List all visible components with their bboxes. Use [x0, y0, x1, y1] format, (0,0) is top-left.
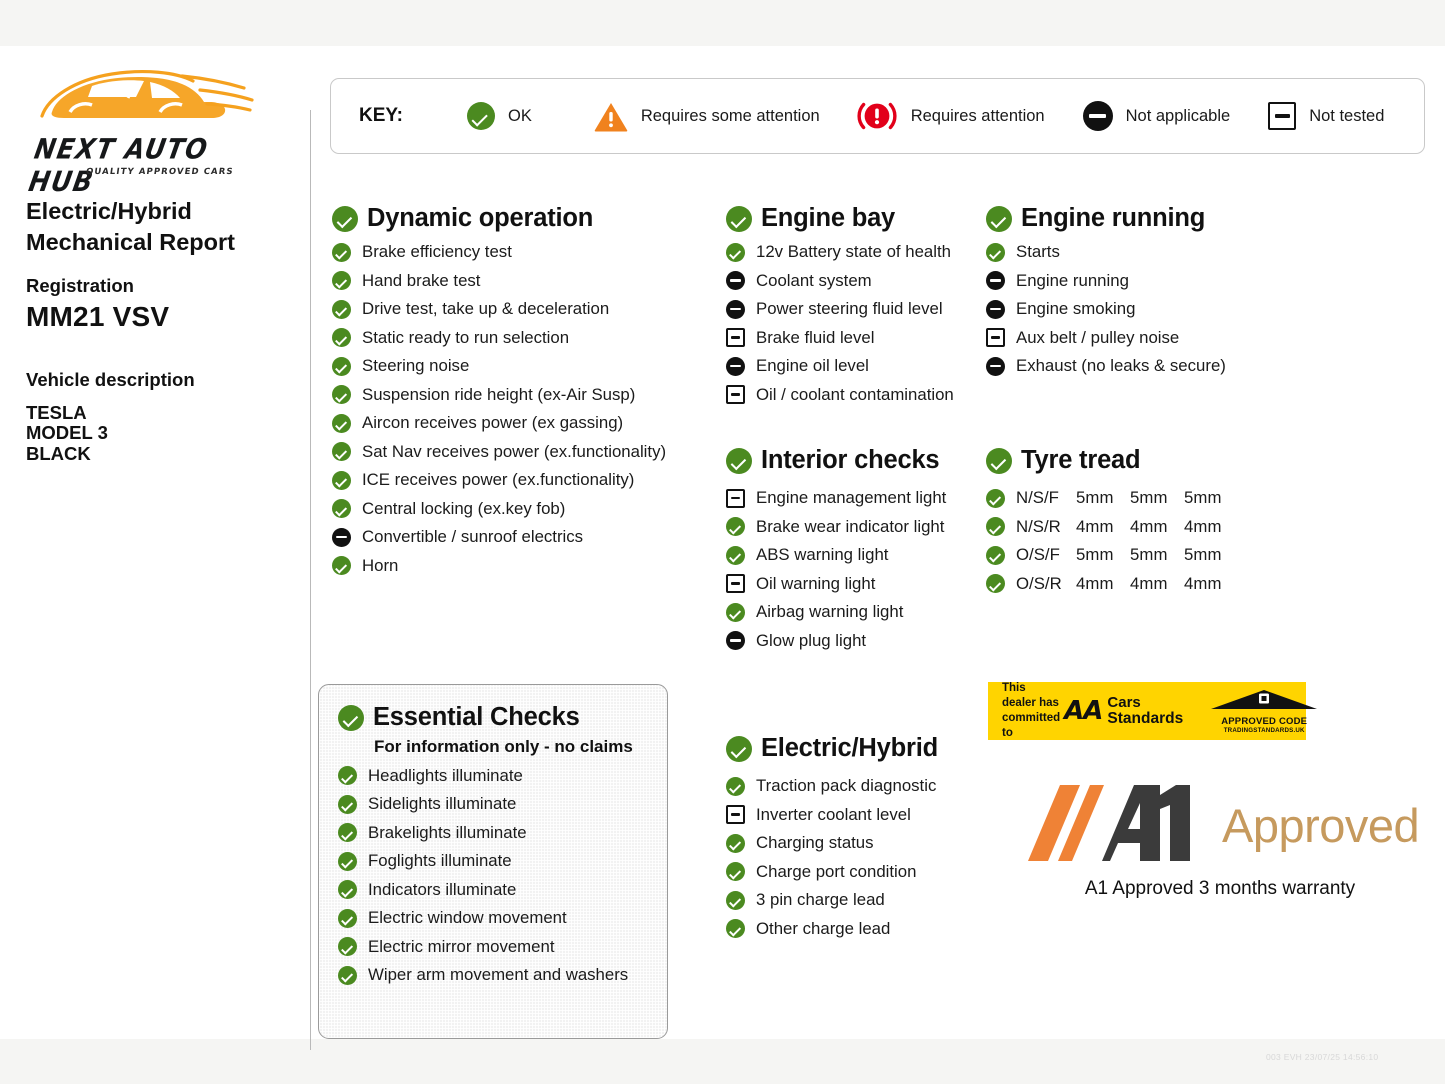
not-tested-icon — [1268, 102, 1296, 130]
checklist-item: Central locking (ex.key fob) — [332, 499, 666, 519]
checklist: Headlights illuminateSidelights illumina… — [338, 766, 667, 986]
vehicle-info-sidebar: NEXT AUTO HUB QUALITY APPROVED CARS Elec… — [26, 60, 294, 465]
key-item-ok: OK — [467, 102, 532, 130]
not-applicable-icon — [726, 357, 745, 376]
brand-name: NEXT AUTO HUB — [26, 133, 281, 198]
checklist-item-label: Steering noise — [362, 356, 469, 376]
bottom-margin-band — [0, 1039, 1445, 1084]
ok-icon — [332, 328, 351, 347]
section-title: Engine bay — [761, 204, 895, 233]
tyre-depth-value: 5mm — [1130, 488, 1184, 508]
checklist-item-label: Brake efficiency test — [362, 242, 512, 262]
checklist-item-label: Other charge lead — [756, 919, 890, 939]
trading-standards-label: TRADINGSTANDARDS.UK — [1210, 727, 1318, 734]
ok-icon — [726, 517, 745, 536]
checklist-item: Horn — [332, 556, 666, 576]
checklist-item: Sat Nav receives power (ex.functionality… — [332, 442, 666, 462]
checklist-item: ABS warning light — [726, 545, 946, 565]
checklist-item-label: 3 pin charge lead — [756, 890, 885, 910]
tyre-tread-list: N/S/F5mm5mm5mmN/S/R4mm4mm4mmO/S/F5mm5mm5… — [986, 488, 1238, 594]
checklist-item: Hand brake test — [332, 271, 666, 291]
ok-icon — [986, 517, 1005, 536]
ok-icon — [726, 891, 745, 910]
checklist-item-label: Engine smoking — [1016, 299, 1135, 319]
checklist-item-label: Sat Nav receives power (ex.functionality… — [362, 442, 666, 462]
section-header: Engine bay — [726, 204, 954, 233]
ok-icon — [332, 300, 351, 319]
checklist-item-label: Charge port condition — [756, 862, 916, 882]
section-electric-hybrid: Electric/Hybrid Traction pack diagnostic… — [726, 734, 938, 939]
checklist-item-label: Indicators illuminate — [368, 880, 516, 900]
not-applicable-icon — [726, 631, 745, 650]
ok-icon — [338, 823, 357, 842]
aa-cars-label: Cars — [1107, 695, 1183, 711]
checklist-item-label: Foglights illuminate — [368, 851, 512, 871]
checklist-item: Glow plug light — [726, 631, 946, 651]
ok-icon — [332, 206, 358, 232]
not-applicable-icon — [726, 271, 745, 290]
checklist-item: Inverter coolant level — [726, 805, 938, 825]
tyre-depth-value: 4mm — [1076, 517, 1130, 537]
report-footer-code: 003 EVH 23/07/25 14:56:10 — [1266, 1052, 1378, 1062]
section-header: Engine running — [986, 204, 1226, 233]
page-title: Electric/HybridMechanical Report — [26, 196, 294, 259]
tyre-depth-values: 4mm4mm4mm — [1076, 517, 1238, 537]
ok-icon — [986, 546, 1005, 565]
checklist-item-label: Brake wear indicator light — [756, 517, 944, 537]
tyre-depth-value: 5mm — [1076, 545, 1130, 565]
a1-approved-word: Approved — [1222, 798, 1419, 853]
not-tested-icon — [726, 328, 745, 347]
checklist-item-label: Exhaust (no leaks & secure) — [1016, 356, 1226, 376]
ok-icon — [986, 448, 1012, 474]
section-engine-running: Engine running StartsEngine runningEngin… — [986, 204, 1226, 376]
checklist: Brake efficiency testHand brake testDriv… — [332, 242, 666, 576]
ok-icon — [726, 834, 745, 853]
aa-standards-label: Standards — [1107, 711, 1183, 727]
section-interior-checks: Interior checks Engine management lightB… — [726, 446, 946, 651]
checklist-item: Coolant system — [726, 271, 954, 291]
key-item-label: OK — [508, 107, 532, 126]
key-item-not-applicable: Not applicable — [1083, 101, 1231, 131]
checklist: 12v Battery state of healthCoolant syste… — [726, 242, 954, 405]
ok-icon — [338, 705, 364, 731]
vehicle-description-value: TESLAMODEL 3BLACK — [26, 403, 294, 465]
checklist-item-label: Engine oil level — [756, 356, 869, 376]
key-item-not-tested: Not tested — [1268, 102, 1384, 130]
checklist-item: Electric window movement — [338, 908, 667, 928]
section-title: Engine running — [1021, 204, 1205, 233]
checklist-item: Traction pack diagnostic — [726, 776, 938, 796]
ok-icon — [332, 243, 351, 262]
aa-cars-standards-badge: This dealer hascommitted to AA Cars Stan… — [988, 682, 1306, 740]
not-applicable-icon — [986, 300, 1005, 319]
checklist-item-label: Glow plug light — [756, 631, 866, 651]
checklist-item: Engine running — [986, 271, 1226, 291]
section-header: Dynamic operation — [332, 204, 666, 233]
checklist-item-label: Hand brake test — [362, 271, 480, 291]
ok-icon — [332, 357, 351, 376]
tyre-depth-values: 5mm5mm5mm — [1076, 545, 1238, 565]
tyre-tread-row: O/S/R4mm4mm4mm — [986, 574, 1238, 594]
tyre-depth-values: 4mm4mm4mm — [1076, 574, 1238, 594]
checklist-item: Steering noise — [332, 356, 666, 376]
key-item-label: Not tested — [1309, 107, 1384, 126]
section-title: Electric/Hybrid — [761, 734, 938, 763]
checklist: StartsEngine runningEngine smokingAux be… — [986, 242, 1226, 376]
checklist-item: Brake fluid level — [726, 328, 954, 348]
not-applicable-icon — [1083, 101, 1113, 131]
ok-icon — [726, 862, 745, 881]
tyre-depth-value: 4mm — [1130, 517, 1184, 537]
checklist-item: Oil warning light — [726, 574, 946, 594]
tyre-depth-value: 5mm — [1184, 545, 1238, 565]
checklist-item-label: Drive test, take up & deceleration — [362, 299, 609, 319]
tyre-depth-value: 5mm — [1076, 488, 1130, 508]
checklist-item: Other charge lead — [726, 919, 938, 939]
ok-icon — [338, 880, 357, 899]
tyre-tread-row: N/S/F5mm5mm5mm — [986, 488, 1238, 508]
ok-icon — [726, 243, 745, 262]
checklist-item-label: Electric mirror movement — [368, 937, 555, 957]
key-legend: KEY: OK Requires some attention — [330, 78, 1425, 154]
requires-attention-icon — [856, 99, 898, 133]
tyre-depth-value: 4mm — [1184, 574, 1238, 594]
checklist-item-label: Charging status — [756, 833, 874, 853]
ok-icon — [726, 777, 745, 796]
aa-badge-intro: This dealer hascommitted to — [1002, 681, 1060, 741]
section-header: Tyre tread — [986, 446, 1238, 475]
car-logo-icon — [32, 64, 262, 136]
ok-icon — [726, 546, 745, 565]
checklist-item-label: Electric window movement — [368, 908, 567, 928]
checklist-item: 12v Battery state of health — [726, 242, 954, 262]
key-item-label: Requires some attention — [641, 107, 820, 126]
ok-icon — [986, 489, 1005, 508]
checklist-item: Charge port condition — [726, 862, 938, 882]
checklist-item-label: Engine management light — [756, 488, 946, 508]
checklist-item: Suspension ride height (ex-Air Susp) — [332, 385, 666, 405]
tyre-position-label: N/S/F — [1016, 488, 1076, 508]
checklist-item: Aux belt / pulley noise — [986, 328, 1226, 348]
checklist-item-label: Inverter coolant level — [756, 805, 911, 825]
tyre-depth-value: 4mm — [1076, 574, 1130, 594]
checklist-item-label: 12v Battery state of health — [756, 242, 951, 262]
section-engine-bay: Engine bay 12v Battery state of healthCo… — [726, 204, 954, 405]
approved-code-logo: APPROVED CODE TRADINGSTANDARDS.UK — [1210, 689, 1318, 734]
section-dynamic-operation: Dynamic operation Brake efficiency testH… — [332, 204, 666, 576]
registration-value: MM21 VSV — [26, 301, 294, 333]
checklist-item-label: Traction pack diagnostic — [756, 776, 936, 796]
checklist-item-label: Oil / coolant contamination — [756, 385, 954, 405]
section-tyre-tread: Tyre tread N/S/F5mm5mm5mmN/S/R4mm4mm4mmO… — [986, 446, 1238, 594]
section-essential-checks: Essential Checks For information only - … — [318, 684, 668, 1039]
tyre-depth-value: 4mm — [1130, 574, 1184, 594]
ok-icon — [726, 206, 752, 232]
dealer-logo: NEXT AUTO HUB QUALITY APPROVED CARS — [26, 60, 276, 180]
tyre-depth-value: 4mm — [1184, 517, 1238, 537]
ok-icon — [338, 909, 357, 928]
approved-code-label: APPROVED CODE — [1210, 716, 1318, 727]
checklist-item: Power steering fluid level — [726, 299, 954, 319]
key-item-label: Requires attention — [911, 107, 1045, 126]
checklist-item: Static ready to run selection — [332, 328, 666, 348]
checklist-item-label: ABS warning light — [756, 545, 888, 565]
checklist-item-label: Headlights illuminate — [368, 766, 523, 786]
checklist-item: Starts — [986, 242, 1226, 262]
key-item-requires-attention: Requires attention — [856, 99, 1045, 133]
essential-checks-subtitle: For information only - no claims — [374, 737, 667, 757]
not-applicable-icon — [332, 528, 351, 547]
section-title: Tyre tread — [1021, 446, 1140, 475]
checklist-item: Aircon receives power (ex gassing) — [332, 413, 666, 433]
not-tested-icon — [986, 328, 1005, 347]
report-page: NEXT AUTO HUB QUALITY APPROVED CARS Elec… — [0, 46, 1445, 1039]
ok-icon — [986, 574, 1005, 593]
tyre-depth-values: 5mm5mm5mm — [1076, 488, 1238, 508]
checklist-item: Drive test, take up & deceleration — [332, 299, 666, 319]
checklist-item-label: Aircon receives power (ex gassing) — [362, 413, 623, 433]
ok-icon — [332, 499, 351, 518]
checklist-item: Engine management light — [726, 488, 946, 508]
checklist-item-label: Airbag warning light — [756, 602, 903, 622]
not-applicable-icon — [986, 357, 1005, 376]
vehicle-description-label: Vehicle description — [26, 369, 294, 391]
tyre-depth-value: 5mm — [1184, 488, 1238, 508]
sidebar-divider — [310, 110, 311, 1050]
section-title: Dynamic operation — [367, 204, 593, 233]
warning-triangle-icon — [594, 101, 628, 132]
registration-label: Registration — [26, 275, 294, 297]
checklist-item-label: Brakelights illuminate — [368, 823, 527, 843]
checklist-item-label: Static ready to run selection — [362, 328, 569, 348]
ok-icon — [726, 736, 752, 762]
tyre-position-label: O/S/F — [1016, 545, 1076, 565]
checklist-item-label: Coolant system — [756, 271, 872, 291]
checklist-item-label: Horn — [362, 556, 398, 576]
checklist-item: Convertible / sunroof electrics — [332, 527, 666, 547]
ok-icon — [332, 385, 351, 404]
checklist-item-label: Starts — [1016, 242, 1060, 262]
section-header: Interior checks — [726, 446, 946, 475]
a1-warranty-caption: A1 Approved 3 months warranty — [1010, 878, 1430, 900]
ok-icon — [338, 795, 357, 814]
tyre-depth-value: 5mm — [1130, 545, 1184, 565]
ok-icon — [986, 243, 1005, 262]
ok-icon — [332, 556, 351, 575]
not-applicable-icon — [726, 300, 745, 319]
ok-icon — [338, 852, 357, 871]
checklist-item-label: Power steering fluid level — [756, 299, 943, 319]
checklist-item: Foglights illuminate — [338, 851, 667, 871]
aa-cars-standards-logo: AA Cars Standards — [1064, 695, 1183, 727]
checklist-item: ICE receives power (ex.functionality) — [332, 470, 666, 490]
checklist-item: Wiper arm movement and washers — [338, 965, 667, 985]
checklist-item: Brake wear indicator light — [726, 517, 946, 537]
checklist-item-label: Engine running — [1016, 271, 1129, 291]
section-title: Essential Checks — [373, 703, 580, 732]
section-header: Essential Checks — [338, 703, 667, 732]
section-title: Interior checks — [761, 446, 939, 475]
ok-icon — [332, 442, 351, 461]
key-item-requires-some-attention: Requires some attention — [594, 101, 820, 132]
checklist-item: Charging status — [726, 833, 938, 853]
checklist-item: Engine oil level — [726, 356, 954, 376]
key-label: KEY: — [359, 105, 403, 127]
checklist-item: Electric mirror movement — [338, 937, 667, 957]
not-tested-icon — [726, 489, 745, 508]
checklist-item-label: ICE receives power (ex.functionality) — [362, 470, 634, 490]
ok-icon — [338, 937, 357, 956]
not-tested-icon — [726, 574, 745, 593]
approved-code-chevron-icon — [1210, 689, 1318, 711]
tyre-position-label: N/S/R — [1016, 517, 1076, 537]
checklist-item: 3 pin charge lead — [726, 890, 938, 910]
tyre-tread-row: N/S/R4mm4mm4mm — [986, 517, 1238, 537]
not-tested-icon — [726, 805, 745, 824]
checklist-item-label: Convertible / sunroof electrics — [362, 527, 583, 547]
tyre-tread-row: O/S/F5mm5mm5mm — [986, 545, 1238, 565]
tyre-position-label: O/S/R — [1016, 574, 1076, 594]
ok-icon — [332, 414, 351, 433]
ok-icon — [332, 271, 351, 290]
a1-approved-logo: Approved — [1010, 782, 1440, 868]
section-header: Electric/Hybrid — [726, 734, 938, 763]
not-tested-icon — [726, 385, 745, 404]
ok-icon — [332, 471, 351, 490]
checklist: Engine management lightBrake wear indica… — [726, 488, 946, 651]
aa-mark: AA — [1064, 696, 1102, 726]
checklist-item: Headlights illuminate — [338, 766, 667, 786]
checklist-item: Oil / coolant contamination — [726, 385, 954, 405]
checklist-item-label: Central locking (ex.key fob) — [362, 499, 565, 519]
brand-tagline: QUALITY APPROVED CARS — [85, 167, 234, 177]
ok-icon — [338, 966, 357, 985]
checklist-item-label: Wiper arm movement and washers — [368, 965, 628, 985]
ok-icon — [986, 206, 1012, 232]
checklist-item-label: Aux belt / pulley noise — [1016, 328, 1179, 348]
checklist-item-label: Suspension ride height (ex-Air Susp) — [362, 385, 635, 405]
checklist-item: Indicators illuminate — [338, 880, 667, 900]
not-applicable-icon — [986, 271, 1005, 290]
checklist-item: Engine smoking — [986, 299, 1226, 319]
checklist-item-label: Oil warning light — [756, 574, 875, 594]
ok-icon — [726, 448, 752, 474]
checklist-item: Airbag warning light — [726, 602, 946, 622]
checklist-item: Sidelights illuminate — [338, 794, 667, 814]
a1-mark-icon — [1010, 783, 1206, 867]
ok-icon — [338, 766, 357, 785]
checklist-item-label: Brake fluid level — [756, 328, 874, 348]
ok-icon — [726, 919, 745, 938]
ok-icon — [726, 603, 745, 622]
ok-icon — [467, 102, 495, 130]
checklist: Traction pack diagnosticInverter coolant… — [726, 776, 938, 939]
checklist-item-label: Sidelights illuminate — [368, 794, 516, 814]
checklist-item: Brake efficiency test — [332, 242, 666, 262]
key-item-label: Not applicable — [1126, 107, 1231, 126]
top-margin-band — [0, 0, 1445, 46]
checklist-item: Exhaust (no leaks & secure) — [986, 356, 1226, 376]
checklist-item: Brakelights illuminate — [338, 823, 667, 843]
